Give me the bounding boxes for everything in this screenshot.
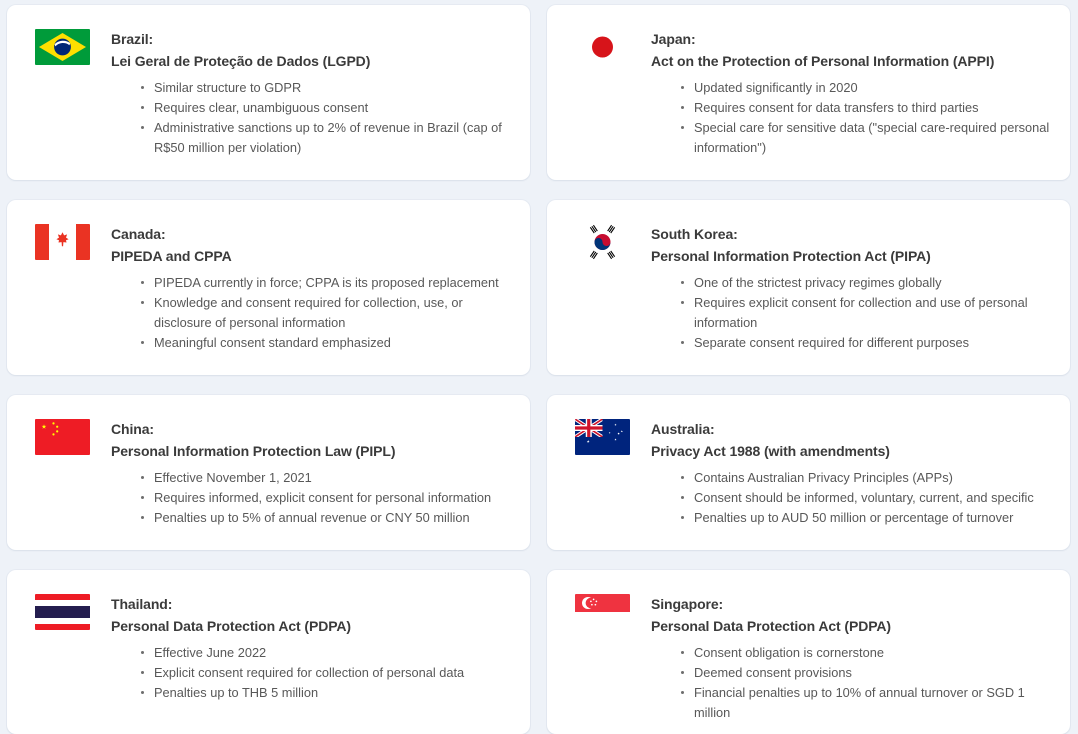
card-body: Singapore:Personal Data Protection Act (…	[651, 592, 1052, 723]
privacy-law-card: Thailand:Personal Data Protection Act (P…	[7, 570, 530, 734]
card-body: Brazil:Lei Geral de Proteção de Dados (L…	[111, 27, 512, 158]
card-flag-cell	[35, 222, 111, 260]
card-point-list: Contains Australian Privacy Principles (…	[651, 468, 1052, 528]
card-law-name: Personal Data Protection Act (PDPA)	[111, 615, 512, 637]
card-point-item: Consent obligation is cornerstone	[681, 643, 1052, 663]
card-country-name: Brazil:	[111, 28, 512, 50]
card-country-name: China:	[111, 418, 512, 440]
card-flag-cell	[35, 592, 111, 630]
flag-singapore-icon	[575, 594, 630, 630]
card-point-list: Updated significantly in 2020Requires co…	[651, 78, 1052, 157]
flag-thailand-icon	[35, 594, 90, 630]
flag-japan-icon	[575, 29, 630, 65]
card-law-name: Privacy Act 1988 (with amendments)	[651, 440, 1052, 462]
flag-south-korea-icon	[575, 224, 630, 260]
card-point-item: Separate consent required for different …	[681, 333, 1052, 353]
card-country-name: Singapore:	[651, 593, 1052, 615]
card-law-name: Personal Information Protection Act (PIP…	[651, 245, 1052, 267]
card-point-item: Requires explicit consent for collection…	[681, 293, 1052, 332]
card-flag-cell	[575, 592, 651, 630]
card-point-item: Explicit consent required for collection…	[141, 663, 512, 683]
card-country-name: South Korea:	[651, 223, 1052, 245]
card-point-item: Contains Australian Privacy Principles (…	[681, 468, 1052, 488]
card-point-list: One of the strictest privacy regimes glo…	[651, 273, 1052, 352]
privacy-law-card: Singapore:Personal Data Protection Act (…	[547, 570, 1070, 734]
card-body: Canada:PIPEDA and CPPAPIPEDA currently i…	[111, 222, 512, 353]
card-flag-cell	[35, 417, 111, 455]
card-law-name: Act on the Protection of Personal Inform…	[651, 50, 1052, 72]
card-body: South Korea:Personal Information Protect…	[651, 222, 1052, 353]
card-flag-cell	[575, 222, 651, 260]
card-point-item: One of the strictest privacy regimes glo…	[681, 273, 1052, 293]
card-body: Japan:Act on the Protection of Personal …	[651, 27, 1052, 158]
card-point-item: Financial penalties up to 10% of annual …	[681, 683, 1052, 722]
card-point-item: Special care for sensitive data ("specia…	[681, 118, 1052, 157]
flag-australia-icon	[575, 419, 630, 455]
flag-brazil-icon	[35, 29, 90, 65]
privacy-law-card: Australia:Privacy Act 1988 (with amendme…	[547, 395, 1070, 550]
card-point-list: Similar structure to GDPRRequires clear,…	[111, 78, 512, 157]
card-flag-cell	[35, 27, 111, 65]
card-law-name: Personal Information Protection Law (PIP…	[111, 440, 512, 462]
card-country-name: Thailand:	[111, 593, 512, 615]
card-point-item: PIPEDA currently in force; CPPA is its p…	[141, 273, 512, 293]
card-point-item: Penalties up to AUD 50 million or percen…	[681, 508, 1052, 528]
flag-canada-icon	[35, 224, 90, 260]
card-point-item: Effective November 1, 2021	[141, 468, 512, 488]
card-flag-cell	[575, 417, 651, 455]
card-law-name: Lei Geral de Proteção de Dados (LGPD)	[111, 50, 512, 72]
card-body: Thailand:Personal Data Protection Act (P…	[111, 592, 512, 703]
card-point-list: Effective November 1, 2021Requires infor…	[111, 468, 512, 528]
privacy-law-card: South Korea:Personal Information Protect…	[547, 200, 1070, 375]
card-point-item: Updated significantly in 2020	[681, 78, 1052, 98]
card-point-item: Administrative sanctions up to 2% of rev…	[141, 118, 512, 157]
card-law-name: Personal Data Protection Act (PDPA)	[651, 615, 1052, 637]
card-point-item: Deemed consent provisions	[681, 663, 1052, 683]
card-point-list: Effective June 2022Explicit consent requ…	[111, 643, 512, 703]
flag-china-icon	[35, 419, 90, 455]
card-point-list: Consent obligation is cornerstoneDeemed …	[651, 643, 1052, 722]
card-point-item: Penalties up to THB 5 million	[141, 683, 512, 703]
card-point-list: PIPEDA currently in force; CPPA is its p…	[111, 273, 512, 352]
card-country-name: Australia:	[651, 418, 1052, 440]
card-point-item: Requires clear, unambiguous consent	[141, 98, 512, 118]
card-point-item: Consent should be informed, voluntary, c…	[681, 488, 1052, 508]
privacy-law-card: Japan:Act on the Protection of Personal …	[547, 5, 1070, 180]
card-flag-cell	[575, 27, 651, 65]
card-point-item: Knowledge and consent required for colle…	[141, 293, 512, 332]
card-country-name: Canada:	[111, 223, 512, 245]
card-point-item: Requires informed, explicit consent for …	[141, 488, 512, 508]
card-point-item: Similar structure to GDPR	[141, 78, 512, 98]
privacy-law-card: Brazil:Lei Geral de Proteção de Dados (L…	[7, 5, 530, 180]
card-point-item: Meaningful consent standard emphasized	[141, 333, 512, 353]
card-point-item: Penalties up to 5% of annual revenue or …	[141, 508, 512, 528]
privacy-law-card: China:Personal Information Protection La…	[7, 395, 530, 550]
card-country-name: Japan:	[651, 28, 1052, 50]
card-body: China:Personal Information Protection La…	[111, 417, 512, 528]
privacy-law-card-grid: Brazil:Lei Geral de Proteção de Dados (L…	[0, 0, 1078, 734]
card-body: Australia:Privacy Act 1988 (with amendme…	[651, 417, 1052, 528]
card-point-item: Requires consent for data transfers to t…	[681, 98, 1052, 118]
card-law-name: PIPEDA and CPPA	[111, 245, 512, 267]
privacy-law-card: Canada:PIPEDA and CPPAPIPEDA currently i…	[7, 200, 530, 375]
card-point-item: Effective June 2022	[141, 643, 512, 663]
